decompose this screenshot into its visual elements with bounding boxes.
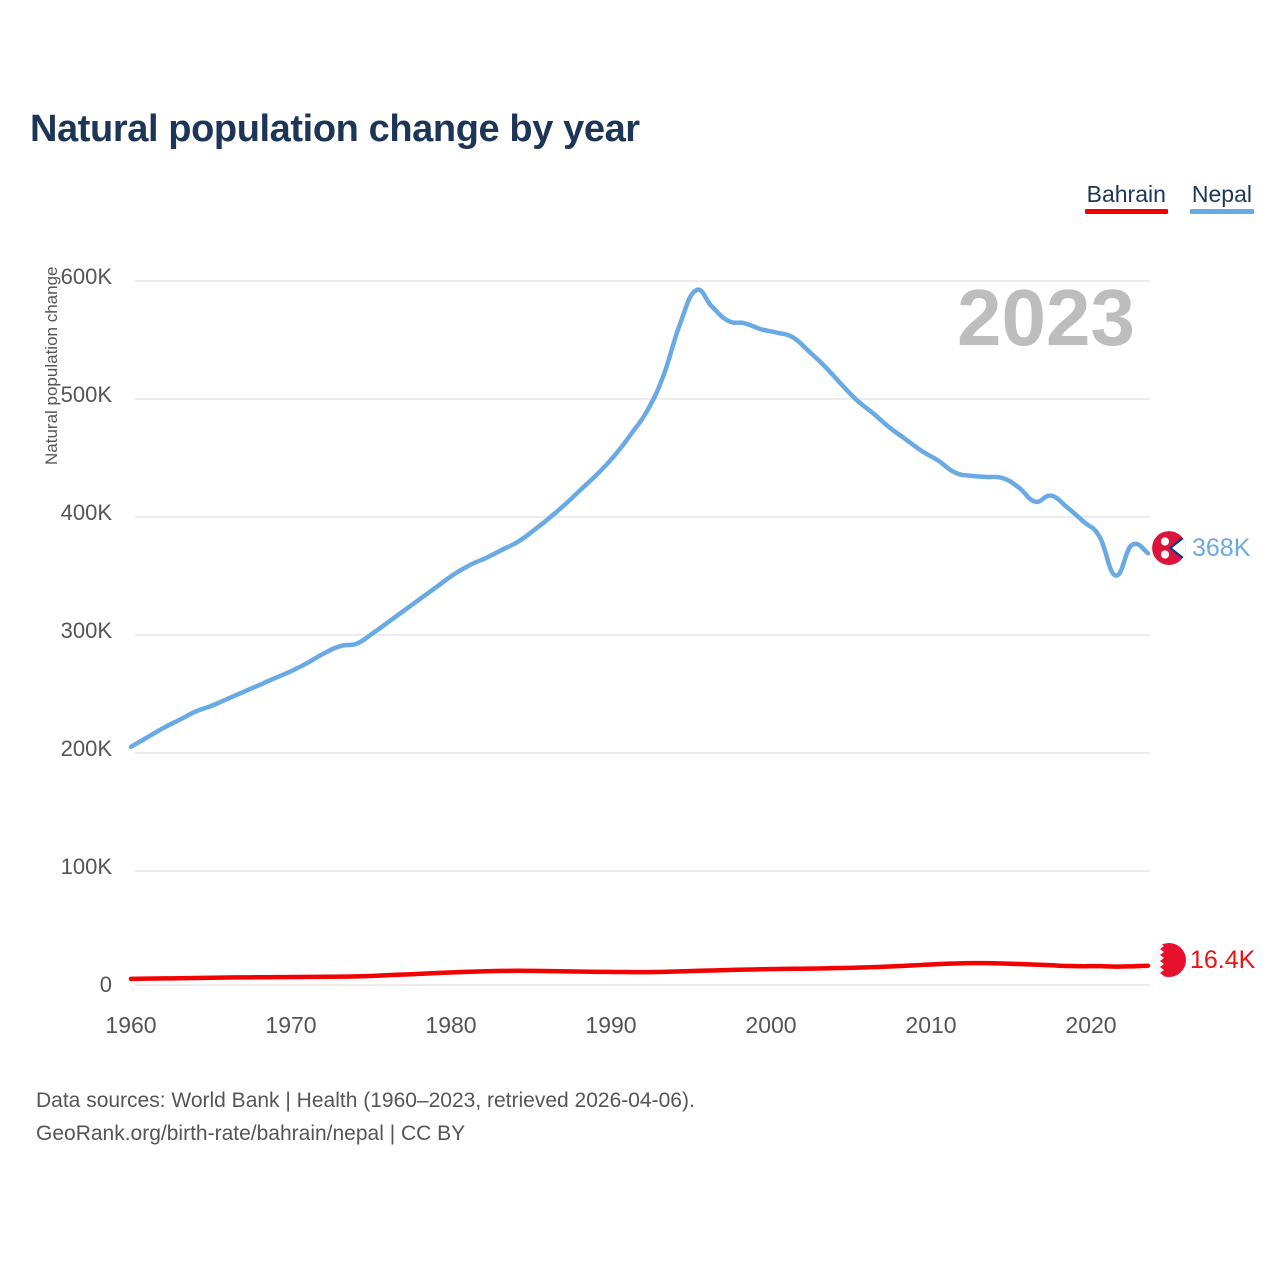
nepal-flag-icon: [1152, 531, 1186, 565]
series-line-nepal: [131, 290, 1148, 747]
chart-page: Natural population change by year Bahrai…: [0, 0, 1280, 1280]
bahrain-flag-icon: [1152, 943, 1186, 977]
footer-line-2: GeoRank.org/birth-rate/bahrain/nepal | C…: [36, 1118, 695, 1151]
footer: Data sources: World Bank | Health (1960–…: [36, 1085, 695, 1150]
end-label-bahrain: 16.4K: [1190, 946, 1255, 975]
gridlines: [135, 281, 1150, 985]
end-label-nepal: 368K: [1192, 534, 1250, 563]
series-line-bahrain: [131, 963, 1148, 979]
footer-line-1: Data sources: World Bank | Health (1960–…: [36, 1085, 695, 1118]
